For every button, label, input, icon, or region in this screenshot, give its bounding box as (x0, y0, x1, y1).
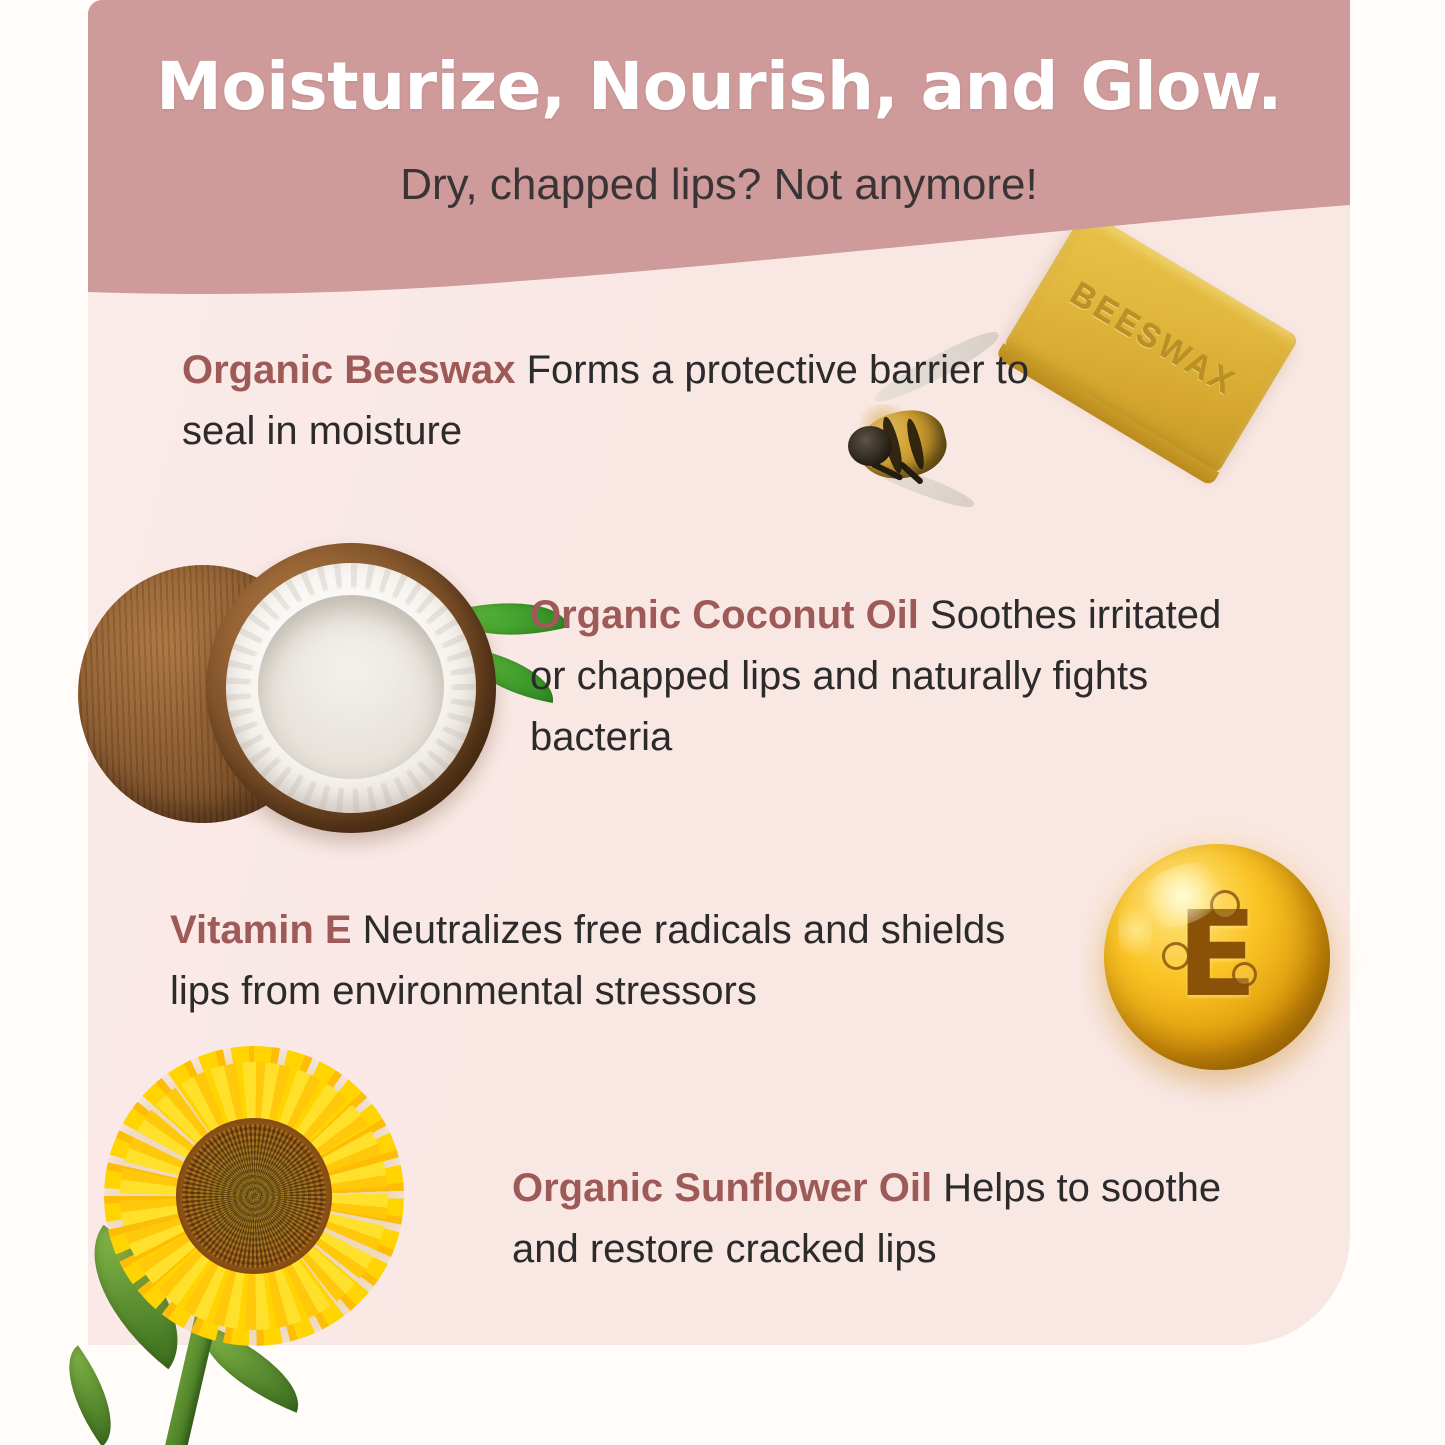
benefit-beeswax-accent: Organic Beeswax (182, 348, 516, 392)
sunflower-seeds (182, 1124, 326, 1268)
benefit-sunflower-oil: Organic Sunflower Oil Helps to soothe an… (512, 1158, 1252, 1280)
page-subtitle: Dry, chapped lips? Not anymore! (88, 160, 1350, 210)
infographic-canvas: BEESWAX E (0, 0, 1445, 1445)
benefit-vitamin-e: Vitamin E Neutralizes free radicals and … (170, 900, 1060, 1022)
sunflower-head (104, 1046, 404, 1346)
benefit-sunflower-oil-accent: Organic Sunflower Oil (512, 1166, 932, 1210)
vitamin-e-bubble (1162, 942, 1190, 970)
header-banner: Moisturize, Nourish, and Glow. Dry, chap… (88, 0, 1350, 300)
coconut-cavity (258, 595, 444, 779)
sunflower-leaf (46, 1345, 135, 1445)
vitamin-e-capsule-image: E (1098, 838, 1338, 1078)
vitamin-e-highlight-secondary (1118, 898, 1152, 964)
vitamin-e-sphere: E (1104, 844, 1330, 1070)
benefit-vitamin-e-accent: Vitamin E (170, 908, 352, 952)
benefit-coconut-oil-accent: Organic Coconut Oil (530, 593, 919, 637)
coconut-front-half (206, 543, 496, 833)
coconut-image (70, 535, 520, 855)
benefit-coconut-oil: Organic Coconut Oil Soothes irritated or… (530, 585, 1230, 767)
page-title: Moisturize, Nourish, and Glow. (88, 48, 1350, 125)
sunflower-disc (176, 1118, 332, 1274)
sunflower-image (48, 1046, 448, 1445)
vitamin-e-bubble (1232, 962, 1257, 987)
benefit-beeswax: Organic Beeswax Forms a protective barri… (182, 340, 1032, 462)
